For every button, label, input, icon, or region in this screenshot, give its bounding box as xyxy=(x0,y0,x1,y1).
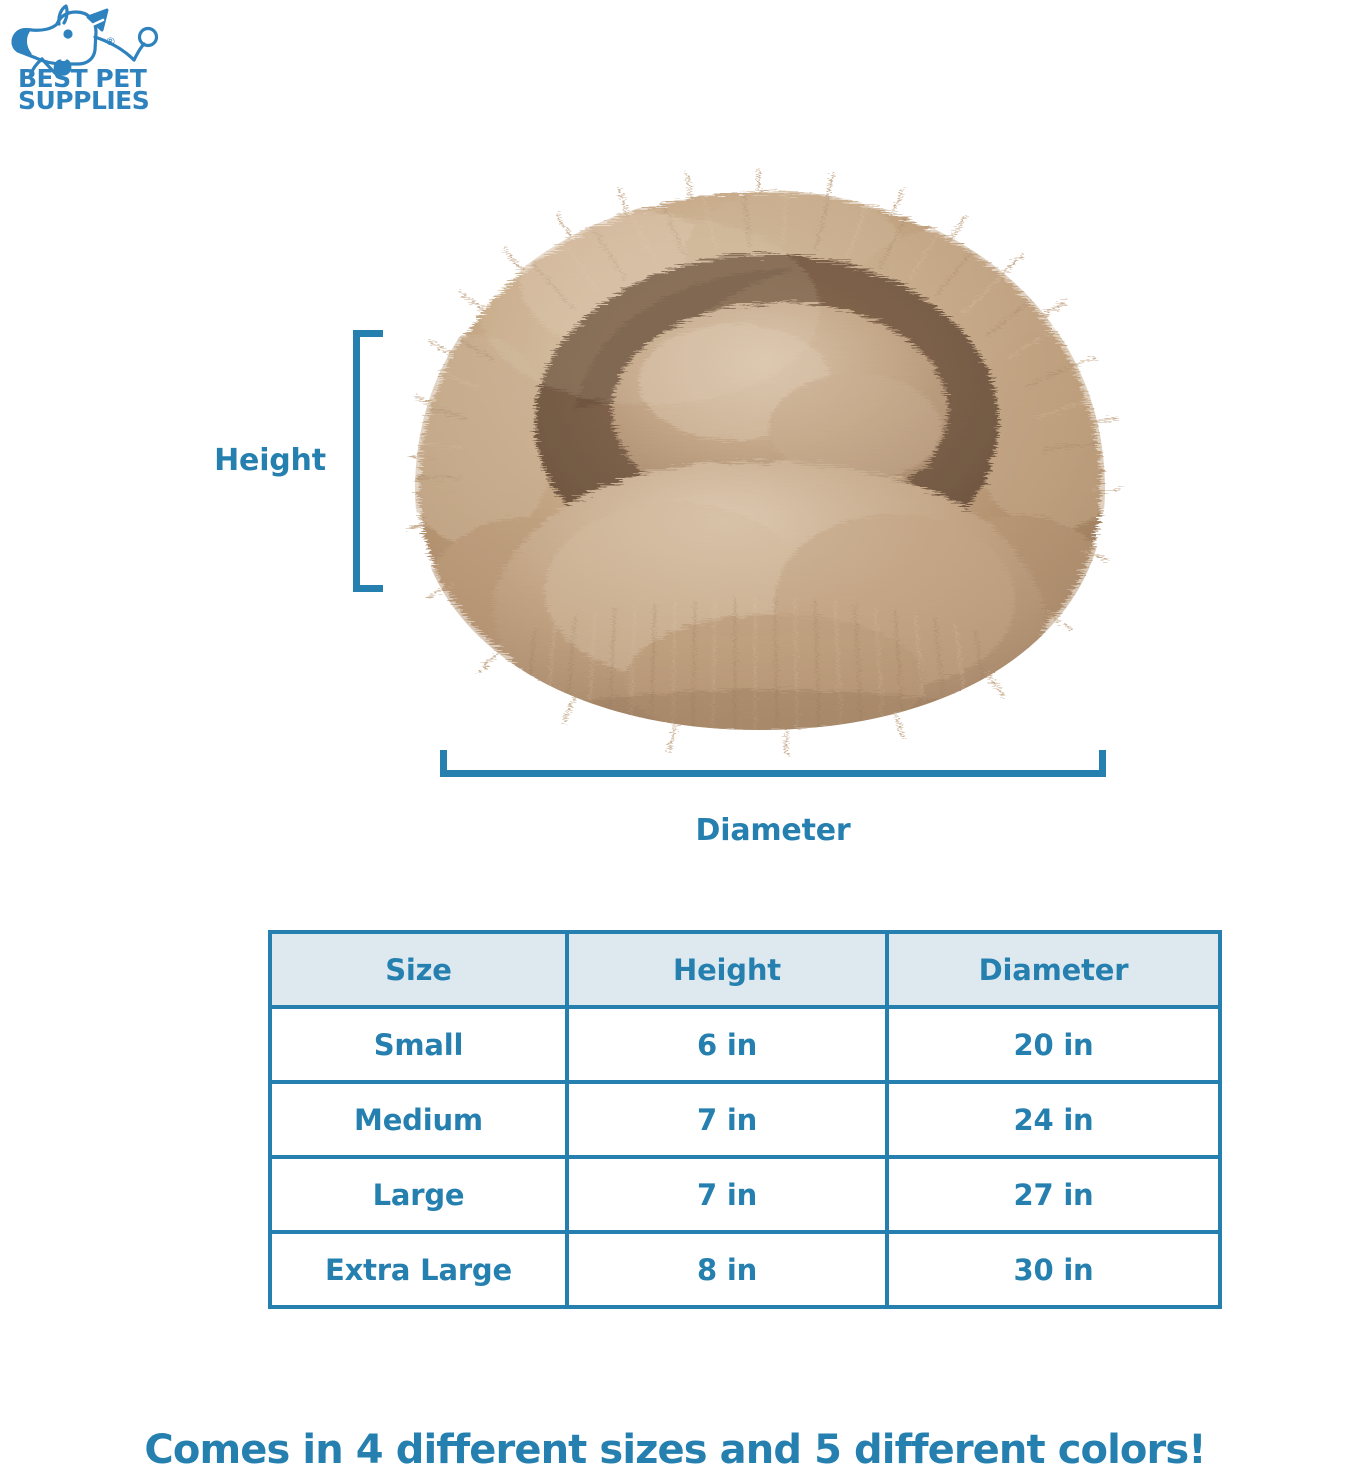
table-row: Large 7 in 27 in xyxy=(270,1157,1220,1232)
footer-tagline: Comes in 4 different sizes and 5 differe… xyxy=(0,1427,1350,1473)
cell-height: 6 in xyxy=(567,1007,887,1082)
table-row: Extra Large 8 in 30 in xyxy=(270,1232,1220,1307)
table-row: Small 6 in 20 in xyxy=(270,1007,1220,1082)
cell-height: 7 in xyxy=(567,1157,887,1232)
svg-text:®: ® xyxy=(105,35,116,48)
cell-diameter: 24 in xyxy=(887,1082,1220,1157)
cell-height: 8 in xyxy=(567,1232,887,1307)
column-header-diameter: Diameter xyxy=(887,932,1220,1007)
brand-name-line2: SUPPLIES xyxy=(18,90,168,112)
diameter-bracket-icon xyxy=(440,750,1106,777)
table-row: Medium 7 in 24 in xyxy=(270,1082,1220,1157)
table-header-row: Size Height Diameter xyxy=(270,932,1220,1007)
pet-bed-image xyxy=(375,160,1145,760)
product-image-stage xyxy=(375,160,1145,760)
height-label: Height xyxy=(205,443,335,478)
brand-logo: ® BEST PET SUPPLIES xyxy=(6,4,166,132)
cell-height: 7 in xyxy=(567,1082,887,1157)
cell-size: Small xyxy=(270,1007,567,1082)
cell-diameter: 30 in xyxy=(887,1232,1220,1307)
column-header-height: Height xyxy=(567,932,887,1007)
cell-size: Medium xyxy=(270,1082,567,1157)
height-bracket-icon xyxy=(353,330,383,592)
diameter-label: Diameter xyxy=(603,813,943,848)
cell-size: Large xyxy=(270,1157,567,1232)
brand-wordmark: BEST PET SUPPLIES xyxy=(18,68,168,112)
cell-diameter: 20 in xyxy=(887,1007,1220,1082)
size-chart-table: Size Height Diameter Small 6 in 20 in Me… xyxy=(268,930,1222,1309)
cell-size: Extra Large xyxy=(270,1232,567,1307)
column-header-size: Size xyxy=(270,932,567,1007)
cell-diameter: 27 in xyxy=(887,1157,1220,1232)
